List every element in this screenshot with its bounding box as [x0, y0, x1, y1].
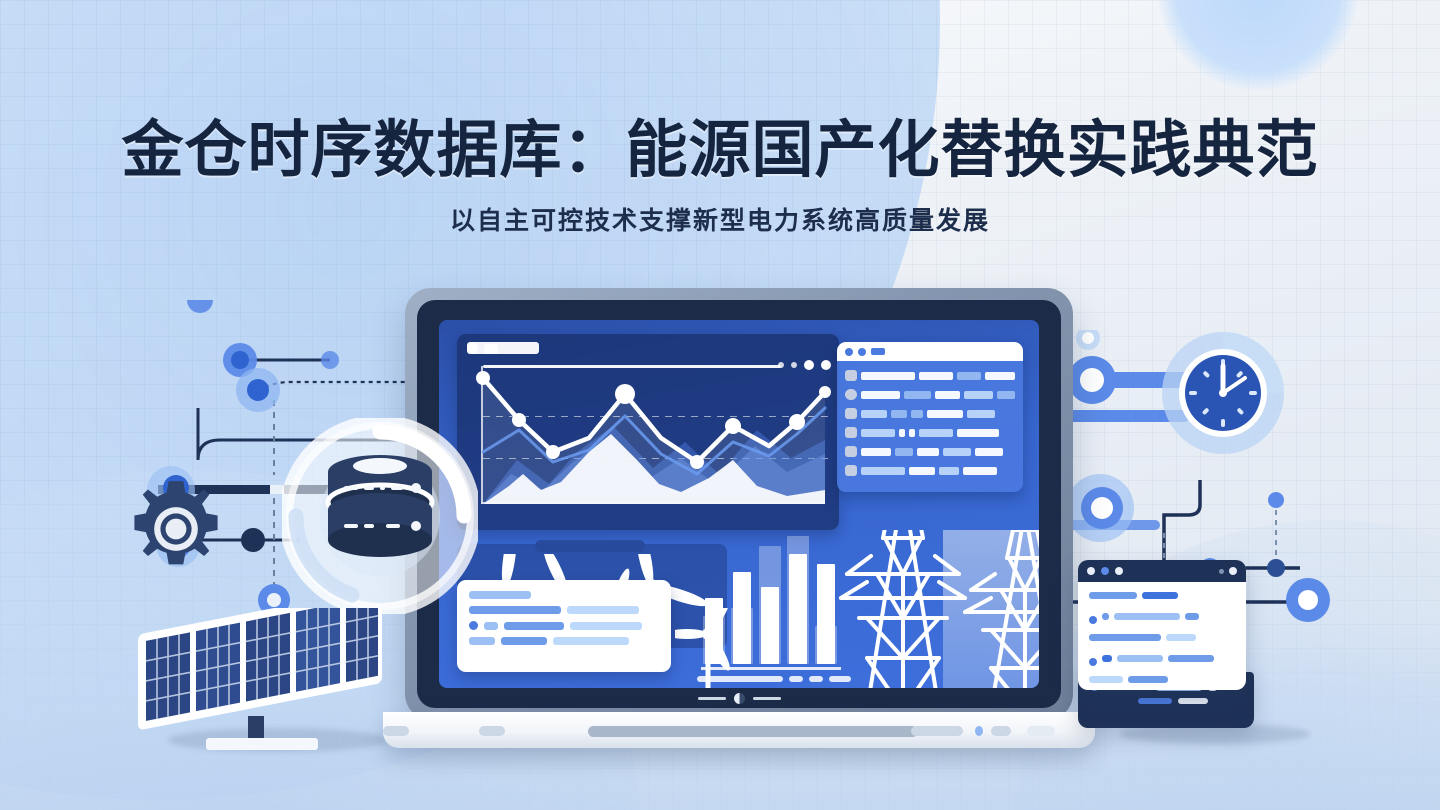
- window-dot: [858, 348, 866, 356]
- table-row: [837, 461, 1023, 480]
- window-dot: [1101, 567, 1109, 575]
- bar: [705, 598, 723, 664]
- data-table-panel: [837, 342, 1023, 492]
- slide-canvas: 金仓时序数据库：能源国产化替换实践典范 以自主可控技术支撑新型电力系统高质量发展: [0, 0, 1440, 810]
- table-titlebar: [837, 342, 1023, 361]
- line-chart-plot: [457, 334, 839, 530]
- window-dot: [1115, 567, 1123, 575]
- card-line: [469, 637, 659, 645]
- bar-chart-baseline: [701, 667, 841, 670]
- laptop-bezel: [417, 300, 1061, 708]
- gear-icon: [124, 477, 228, 581]
- window-dot: [1087, 567, 1095, 575]
- bar: [761, 587, 779, 664]
- code-line: [1089, 634, 1235, 648]
- table-row: [837, 366, 1023, 385]
- bar: [789, 554, 807, 664]
- window-dot: [1219, 569, 1224, 574]
- widget-pill: [535, 540, 645, 552]
- laptop-screen: [439, 320, 1039, 688]
- laptop-base: [383, 712, 1095, 748]
- laptop-lid: [405, 288, 1073, 720]
- line-chart-panel: [457, 334, 839, 530]
- header-block: 金仓时序数据库：能源国产化替换实践典范 以自主可控技术支撑新型电力系统高质量发展: [0, 118, 1440, 237]
- code-line: [1089, 613, 1235, 627]
- table-row: [837, 423, 1023, 442]
- solar-panel-icon: [130, 608, 420, 758]
- code-line: [1089, 676, 1235, 690]
- screen-lower-band: [439, 530, 1039, 688]
- power-pylon-icon: [963, 530, 1039, 688]
- window-dot: [845, 348, 853, 356]
- window-pill: [871, 348, 885, 355]
- table-row: [837, 404, 1023, 423]
- info-card: [457, 580, 671, 672]
- bar: [817, 564, 835, 664]
- page-title: 金仓时序数据库：能源国产化替换实践典范: [0, 118, 1440, 183]
- table-row: [837, 385, 1023, 404]
- window-dot: [1229, 567, 1237, 575]
- card-line: [469, 591, 531, 599]
- laptop-trackpad[interactable]: [588, 726, 918, 737]
- table-row: [837, 442, 1023, 461]
- bar: [733, 572, 751, 664]
- power-pylon-icon: [837, 530, 969, 688]
- card-line: [469, 621, 659, 630]
- laptop-hinge-notch: [679, 692, 799, 704]
- code-line: [1089, 655, 1235, 669]
- bar-chart-widget: [701, 536, 841, 664]
- code-window-titlebar: [1078, 560, 1246, 582]
- card-line: [469, 606, 659, 614]
- server-row: [1078, 691, 1254, 704]
- page-subtitle: 以自主可控技术支撑新型电力系统高质量发展: [0, 201, 1440, 237]
- code-window-icon: [1078, 560, 1246, 690]
- code-line: [1089, 592, 1235, 606]
- laptop-device: [405, 288, 1073, 720]
- database-icon: [282, 418, 478, 614]
- clock-icon: [1160, 330, 1286, 456]
- bar-chart-legend: [697, 676, 851, 682]
- code-window-body: [1078, 582, 1246, 690]
